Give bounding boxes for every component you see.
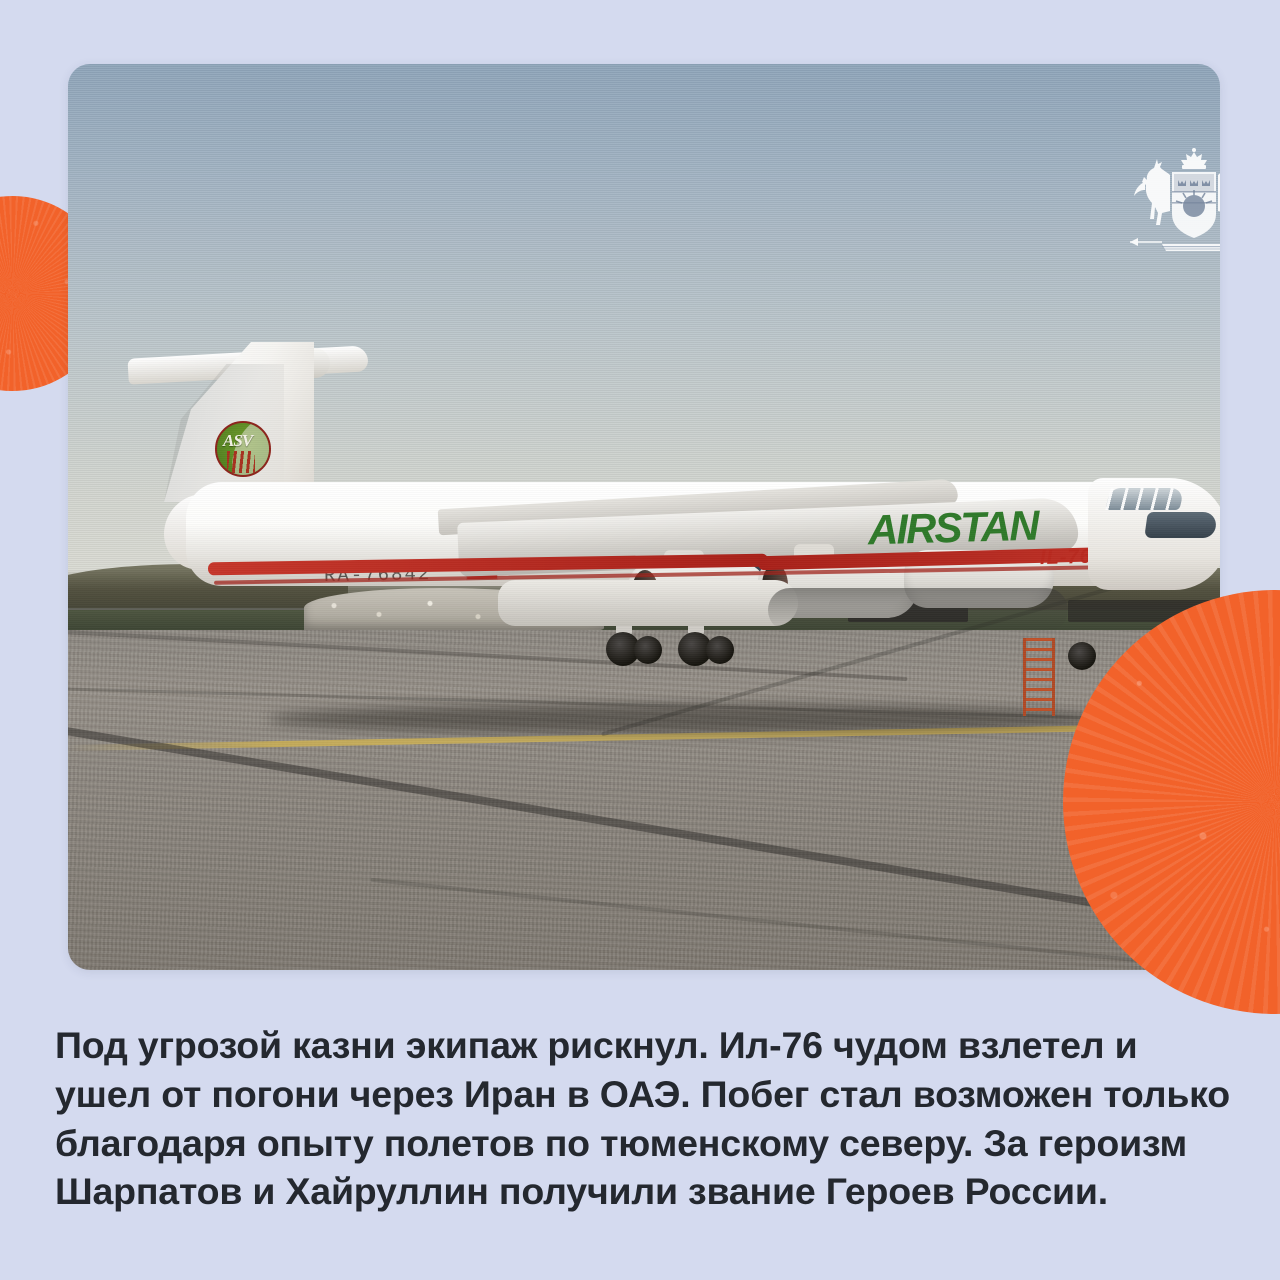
photo-card: ASV RA-76842 bbox=[68, 64, 1220, 970]
asv-tail-logo-icon: ASV bbox=[215, 421, 271, 477]
boarding-ladder bbox=[1023, 638, 1055, 716]
navigator-glazing bbox=[1144, 512, 1218, 538]
logo-stripes bbox=[227, 451, 255, 473]
coat-of-arms-icon bbox=[1114, 146, 1220, 262]
belly-fairing bbox=[498, 580, 798, 626]
underfuselage-shadow bbox=[768, 588, 1068, 632]
cockpit-windows bbox=[1105, 488, 1184, 510]
asv-logo-text: ASV bbox=[223, 431, 252, 451]
nose-wheel bbox=[1068, 642, 1096, 670]
page-root: ASV RA-76842 bbox=[0, 0, 1280, 1280]
aircraft-shadow bbox=[268, 704, 1108, 734]
main-wheel bbox=[634, 636, 662, 664]
operator-titles: AIRSTAN bbox=[867, 502, 1038, 555]
window-frames bbox=[1105, 488, 1184, 510]
caption-text: Под угрозой казни экипаж рискнул. Ил-76 … bbox=[55, 1021, 1240, 1216]
aircraft-photo: ASV RA-76842 bbox=[68, 64, 1220, 970]
main-wheel bbox=[706, 636, 734, 664]
